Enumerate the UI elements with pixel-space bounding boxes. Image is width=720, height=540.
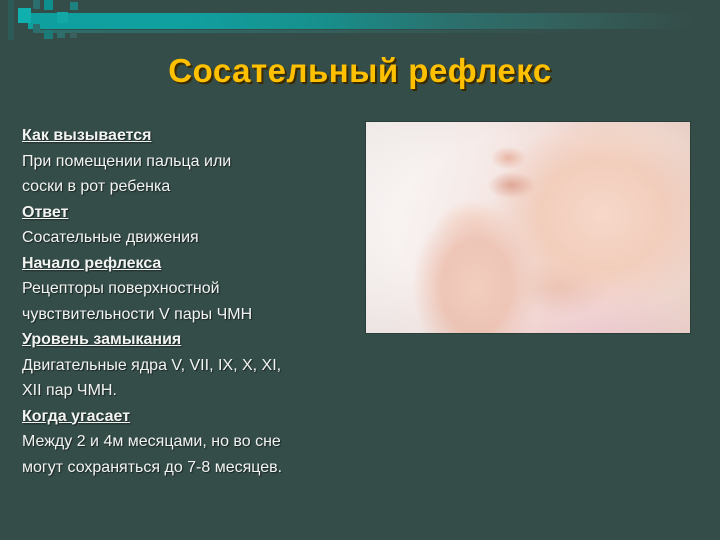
baby-photo — [366, 122, 690, 333]
body-text-line: Рецепторы поверхностной — [22, 276, 352, 302]
decorative-square-3 — [33, 24, 40, 33]
body-text-line: XII пар ЧМН. — [22, 378, 352, 404]
body-text-line: могут сохраняться до 7-8 месяцев. — [22, 455, 352, 481]
body-text-line: Сосательные движения — [22, 225, 352, 251]
decorative-square-4 — [44, 0, 53, 10]
body-heading-line: Как вызывается — [22, 123, 352, 149]
body-text-line: Между 2 и 4м месяцами, но во сне — [22, 429, 352, 455]
decorative-square-edge — [8, 0, 14, 40]
baby-photo-image — [366, 122, 690, 333]
slide-body-text: Как вызываетсяПри помещении пальца илисо… — [22, 123, 352, 480]
decorative-square-9 — [70, 32, 77, 38]
body-text-line: Двигательные ядра V, VII, IX, X, XI, — [22, 353, 352, 379]
body-heading-line: Ответ — [22, 200, 352, 226]
body-text-line: чувствительности V пары ЧМН — [22, 302, 352, 328]
decorative-top-band — [0, 0, 720, 42]
decorative-accent-bar-thin — [40, 30, 640, 33]
decorative-accent-bar — [28, 13, 720, 29]
decorative-square-7 — [57, 30, 65, 38]
body-text-line: соски в рот ребенка — [22, 174, 352, 200]
body-heading-line: Уровень замыкания — [22, 327, 352, 353]
body-text-line: При помещении пальца или — [22, 149, 352, 175]
decorative-square-1 — [18, 8, 31, 23]
body-heading-line: Когда угасает — [22, 404, 352, 430]
decorative-square-5 — [44, 30, 53, 39]
decorative-square-8 — [70, 2, 78, 10]
decorative-square-2 — [33, 0, 40, 9]
body-heading-line: Начало рефлекса — [22, 251, 352, 277]
slide-canvas: Сосательный рефлекс Как вызываетсяПри по… — [0, 0, 720, 540]
slide-title: Сосательный рефлекс — [0, 52, 720, 90]
decorative-square-6 — [57, 12, 68, 23]
